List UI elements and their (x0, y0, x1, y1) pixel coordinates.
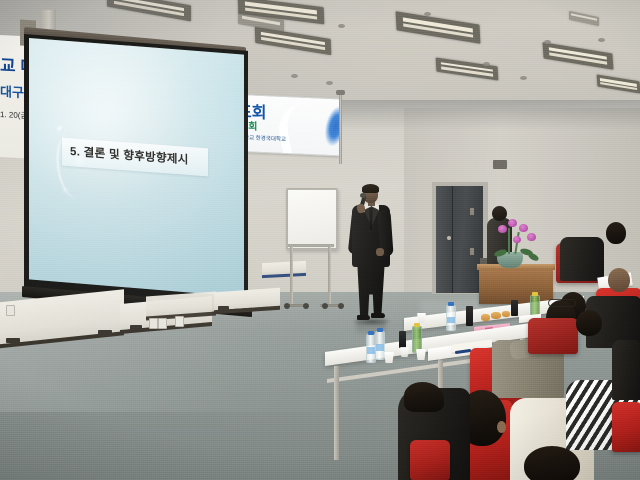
audience-chair[interactable] (410, 440, 450, 480)
black-device[interactable] (511, 300, 518, 316)
audience-body (612, 340, 640, 400)
whiteboard-caster (303, 303, 309, 309)
whiteboard-leg (290, 246, 293, 304)
cabinet-foot (98, 330, 112, 335)
banner-pole-cap (336, 90, 345, 95)
bottle-cap (448, 302, 454, 306)
cabinet-foot (218, 306, 229, 311)
cabinet-foot (130, 325, 142, 330)
standing-attendee-head (492, 206, 507, 221)
low-bench (262, 261, 306, 278)
snack-item (481, 314, 490, 321)
cabinet-foot (6, 338, 20, 343)
bottle-label (447, 317, 455, 323)
table-leg (334, 366, 339, 460)
paper-cup[interactable] (416, 349, 426, 360)
audience-ear (497, 421, 506, 433)
presenter-hair (362, 184, 379, 193)
whiteboard-leg (328, 246, 331, 304)
water-bottle[interactable] (375, 331, 385, 360)
bottle-label (367, 347, 375, 354)
bottle-cap (368, 331, 374, 335)
audience-head (606, 222, 626, 244)
wall-power-outlet[interactable] (175, 316, 184, 327)
audience-head (576, 310, 602, 336)
whiteboard-caster (322, 303, 328, 309)
orchid-bloom (527, 233, 536, 241)
wall-power-outlet[interactable] (149, 318, 158, 329)
water-bottle[interactable] (446, 305, 456, 331)
paper-cup[interactable] (400, 347, 409, 357)
black-device[interactable] (399, 331, 406, 348)
photo-scene: 교 대 대구 · 1. 20(금) 1 표회 표회 대학교 한경국대학교 5. … (0, 0, 640, 480)
bottle-cap (532, 292, 538, 296)
whiteboard-caster (338, 303, 344, 309)
audience-body (560, 237, 604, 281)
bottle-cap (414, 323, 420, 327)
bottle-cap (377, 328, 383, 332)
orchid-bloom (519, 224, 528, 232)
presenter-right-shoe (371, 313, 385, 318)
whiteboard-caster (284, 303, 290, 309)
paper-cup[interactable] (384, 352, 394, 363)
wall-mounted-box (493, 160, 507, 169)
snack-item (502, 311, 510, 317)
wall-power-outlet[interactable] (6, 305, 15, 316)
orchid-bloom (508, 219, 517, 227)
wooden-counter (479, 268, 553, 304)
orchid-stem (508, 228, 510, 254)
green-tea-bottle[interactable] (412, 326, 422, 353)
orchid-bloom (498, 225, 507, 233)
microphone-head-icon (360, 193, 366, 198)
event-banner: 표회 표회 대학교 한경국대학교 (232, 94, 340, 157)
eyeglasses-icon (548, 299, 576, 307)
banner-pole (339, 92, 342, 164)
audience-chair[interactable] (612, 402, 640, 452)
audience-head (404, 382, 444, 412)
door-knob-icon[interactable] (447, 236, 451, 240)
black-device[interactable] (466, 306, 473, 326)
door-panel[interactable] (436, 186, 453, 293)
audience-head (524, 446, 580, 480)
audience-chair[interactable] (528, 318, 578, 354)
audience-head (608, 268, 630, 292)
paper-cup[interactable] (417, 313, 426, 323)
bottle-label (376, 344, 384, 351)
whiteboard[interactable] (286, 188, 338, 250)
orchid-bloom (513, 236, 521, 243)
snack-item (491, 312, 501, 319)
door-hinge (470, 248, 474, 255)
door-hinge (470, 208, 474, 215)
wall-power-outlet[interactable] (158, 318, 167, 329)
presenter-right-hand (376, 248, 384, 256)
